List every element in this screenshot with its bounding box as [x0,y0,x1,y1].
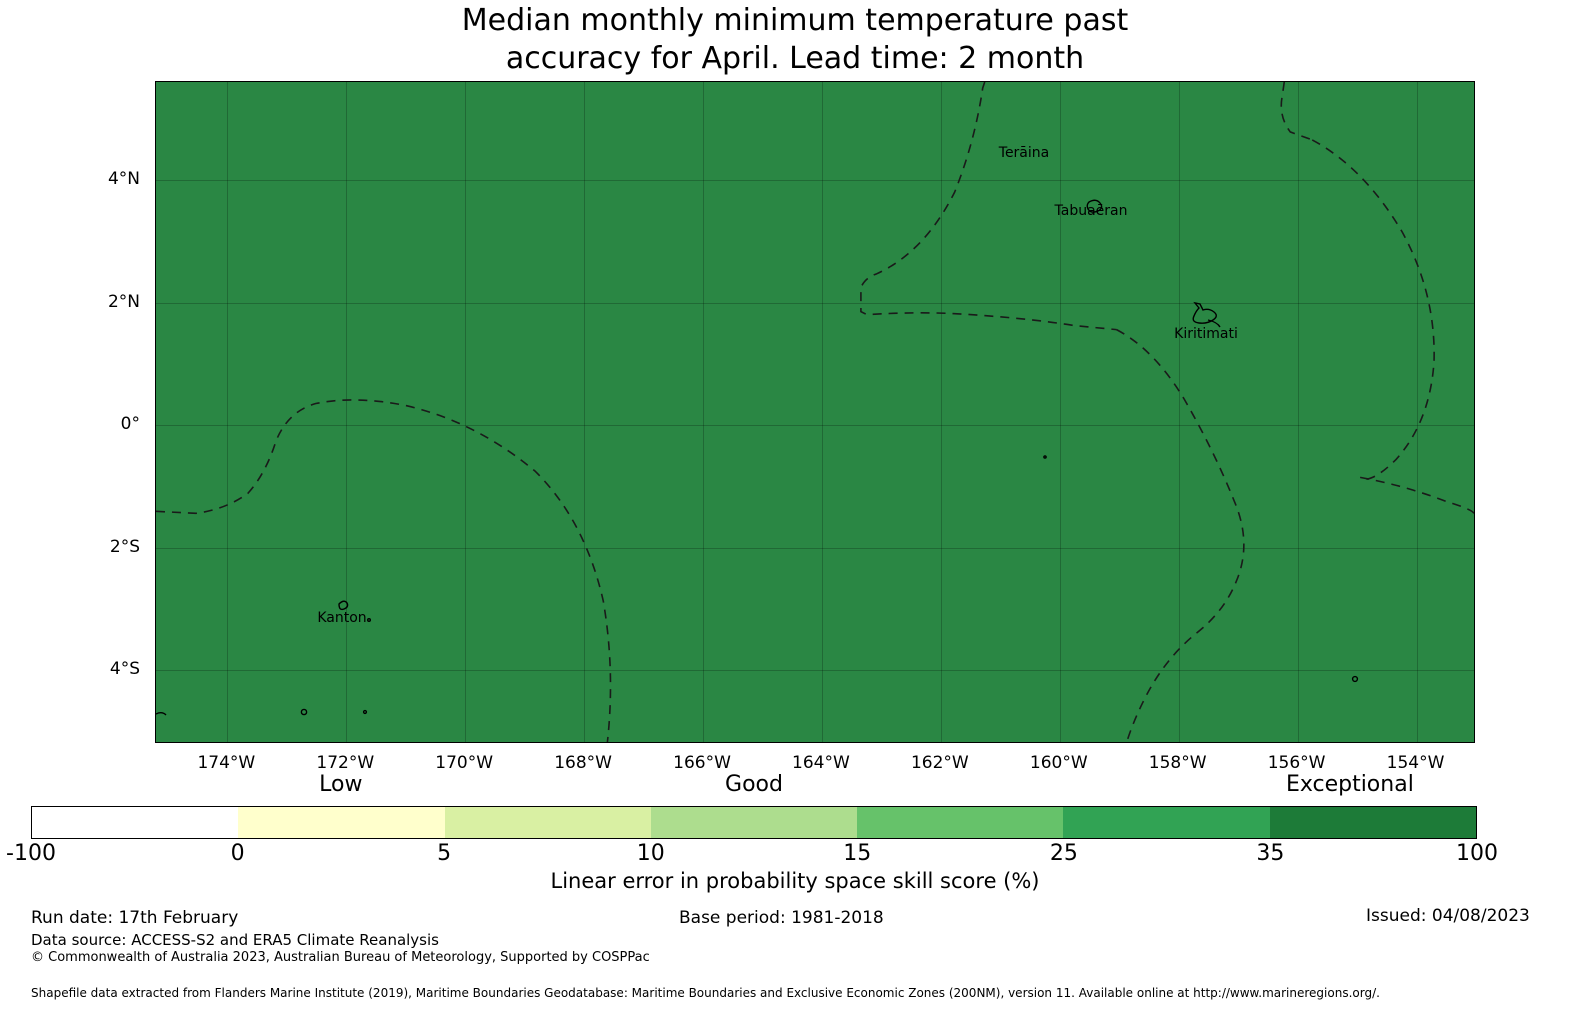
island-coastlines [156,82,1475,743]
colorbar-segment [238,807,444,838]
x-axis-tick-label: 174°W [166,753,286,773]
island-label-teraina: Terāina [999,145,1049,161]
colorbar-segment [32,807,238,838]
x-axis-tick-label: 168°W [523,753,643,773]
colorbar-qualitative-label: Low [319,772,362,797]
x-axis-tick-label: 160°W [999,753,1119,773]
x-axis-tick-label: 158°W [1118,753,1238,773]
y-axis-tick-label: 2°S [20,537,140,557]
island-label-kiritimati: Kiritimati [1174,326,1238,342]
island-label-tabuaeran: Tabuaēran [1055,203,1128,219]
colorbar-qualitative-label: Exceptional [1286,772,1414,797]
colorbar-segment [1270,807,1476,838]
footer-base-period: Base period: 1981-2018 [679,908,884,928]
y-axis-tick-label: 2°N [20,292,140,312]
x-axis-tick-label: 166°W [642,753,762,773]
colorbar[interactable] [31,806,1477,839]
colorbar-segment [857,807,1063,838]
colorbar-tick-label: -100 [6,841,56,866]
y-axis-tick-label: 0° [20,414,140,434]
y-axis-tick-label: 4°N [20,169,140,189]
footer-issued-date: Issued: 04/08/2023 [1366,906,1530,926]
footer-copyright: © Commonwealth of Australia 2023, Austra… [31,950,650,965]
island-label-kanton: Kanton [317,610,366,626]
footer-run-date: Run date: 17th February [31,908,238,928]
colorbar-segment [1063,807,1269,838]
x-axis-tick-label: 154°W [1356,753,1476,773]
figure-title: Median monthly minimum temperature past … [0,2,1590,78]
footer-shapefile-attribution: Shapefile data extracted from Flanders M… [31,986,1380,1000]
colorbar-segment [445,807,651,838]
x-axis-tick-label: 162°W [880,753,1000,773]
colorbar-axis-label: Linear error in probability space skill … [0,869,1590,893]
x-axis-tick-label: 170°W [404,753,524,773]
figure-root: Median monthly minimum temperature past … [0,0,1590,1020]
map-plot-area: Terāina Tabuaēran Kiritimati Kanton [155,81,1475,743]
colorbar-tick-label: 35 [1256,841,1284,866]
colorbar-qualitative-label: Good [725,772,783,797]
x-axis-tick-label: 156°W [1237,753,1357,773]
y-axis-tick-label: 4°S [20,659,140,679]
colorbar-tick-label: 25 [1050,841,1078,866]
colorbar-tick-label: 15 [843,841,871,866]
colorbar-tick-label: 100 [1456,841,1498,866]
colorbar-tick-label: 5 [437,841,451,866]
colorbar-tick-label: 0 [231,841,245,866]
colorbar-tick-label: 10 [637,841,665,866]
colorbar-segment [651,807,857,838]
x-axis-tick-label: 164°W [761,753,881,773]
footer-data-source: Data source: ACCESS-S2 and ERA5 Climate … [31,931,439,949]
x-axis-tick-label: 172°W [285,753,405,773]
